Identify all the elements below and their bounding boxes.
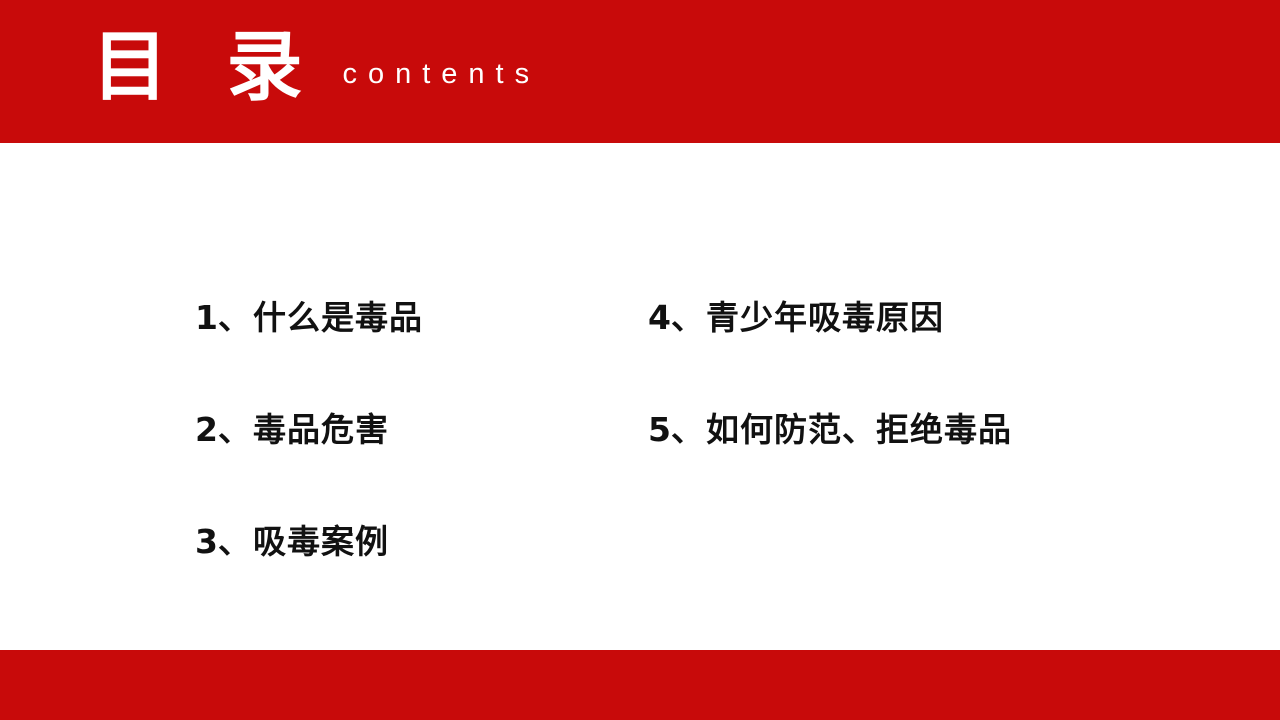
contents-body: 1、什么是毒品 2、毒品危害 3、吸毒案例 4、青少年吸毒原因 5、如何防范、拒…	[0, 143, 1280, 650]
header-band: 目 录 contents	[0, 0, 1280, 143]
toc-item-1[interactable]: 1、什么是毒品	[195, 298, 423, 338]
toc-item-4-label: 青少年吸毒原因	[706, 298, 944, 337]
toc-item-1-separator: 、	[218, 298, 253, 337]
footer-band	[0, 650, 1280, 720]
toc-item-4-separator: 、	[671, 298, 706, 337]
page-title: 目 录	[92, 24, 318, 110]
toc-item-1-number: 1	[195, 298, 218, 337]
toc-item-2-number: 2	[195, 410, 218, 449]
toc-item-4[interactable]: 4、青少年吸毒原因	[648, 298, 944, 338]
toc-item-5-label: 如何防范、拒绝毒品	[706, 410, 1012, 449]
toc-item-2-separator: 、	[218, 410, 253, 449]
toc-item-2[interactable]: 2、毒品危害	[195, 410, 389, 450]
toc-item-2-label: 毒品危害	[253, 410, 389, 449]
toc-item-3[interactable]: 3、吸毒案例	[195, 522, 389, 562]
toc-item-3-number: 3	[195, 522, 218, 561]
toc-item-1-label: 什么是毒品	[253, 298, 423, 337]
toc-item-5[interactable]: 5、如何防范、拒绝毒品	[648, 410, 1012, 450]
page-subtitle: contents	[342, 58, 540, 90]
toc-item-5-separator: 、	[671, 410, 706, 449]
toc-item-5-number: 5	[648, 410, 671, 449]
toc-item-4-number: 4	[648, 298, 671, 337]
toc-item-3-label: 吸毒案例	[253, 522, 389, 561]
header-title-group: 目 录 contents	[92, 24, 540, 110]
toc-item-3-separator: 、	[218, 522, 253, 561]
slide-contents: 目 录 contents 1、什么是毒品 2、毒品危害 3、吸毒案例 4、青少年…	[0, 0, 1280, 720]
